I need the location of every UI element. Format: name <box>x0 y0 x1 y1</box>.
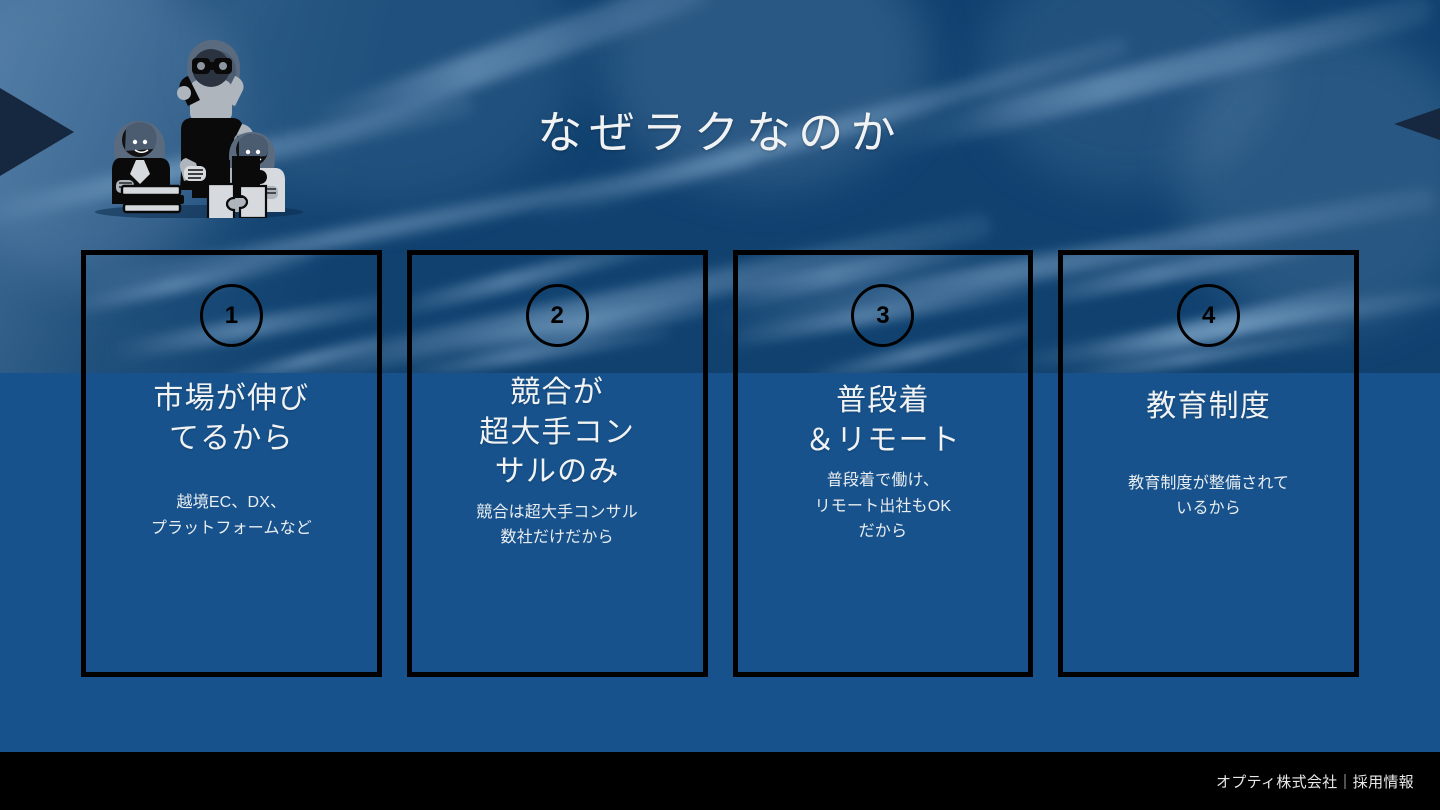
card-number-badge: 2 <box>526 284 589 347</box>
card-number-badge: 1 <box>200 284 263 347</box>
slide-root: なぜラクなのか 1 市場が伸び てるから 越境EC、DX、 プラットフォームなど <box>0 0 1440 810</box>
reason-card-3[interactable]: 3 普段着 ＆リモート 普段着で働け、 リモート出社もOK だから <box>733 250 1034 677</box>
card-number-badge: 4 <box>1177 284 1240 347</box>
card-number-badge: 3 <box>851 284 914 347</box>
card-title: 教育制度 <box>1138 387 1279 427</box>
card-subtitle: 競合は超大手コンサル 数社だけだから <box>466 500 648 551</box>
footer-text: オプティ株式会社｜採用情報 <box>1216 752 1414 810</box>
card-title: 市場が伸び てるから <box>145 379 317 458</box>
reason-card-2[interactable]: 2 競合が 超大手コン サルのみ 競合は超大手コンサル 数社だけだから <box>407 250 708 677</box>
card-title: 普段着 ＆リモート <box>797 381 969 460</box>
card-subtitle: 越境EC、DX、 プラットフォームなど <box>141 490 322 541</box>
card-title: 競合が 超大手コン サルのみ <box>471 373 643 492</box>
reason-card-1[interactable]: 1 市場が伸び てるから 越境EC、DX、 プラットフォームなど <box>81 250 382 677</box>
page-title: なぜラクなのか <box>0 96 1440 161</box>
card-subtitle: 教育制度が整備されて いるから <box>1118 471 1299 522</box>
reason-card-4[interactable]: 4 教育制度 教育制度が整備されて いるから <box>1058 250 1359 677</box>
cards-container: 1 市場が伸び てるから 越境EC、DX、 プラットフォームなど 2 競合が 超… <box>81 250 1359 677</box>
card-subtitle: 普段着で働け、 リモート出社もOK だから <box>805 468 962 545</box>
